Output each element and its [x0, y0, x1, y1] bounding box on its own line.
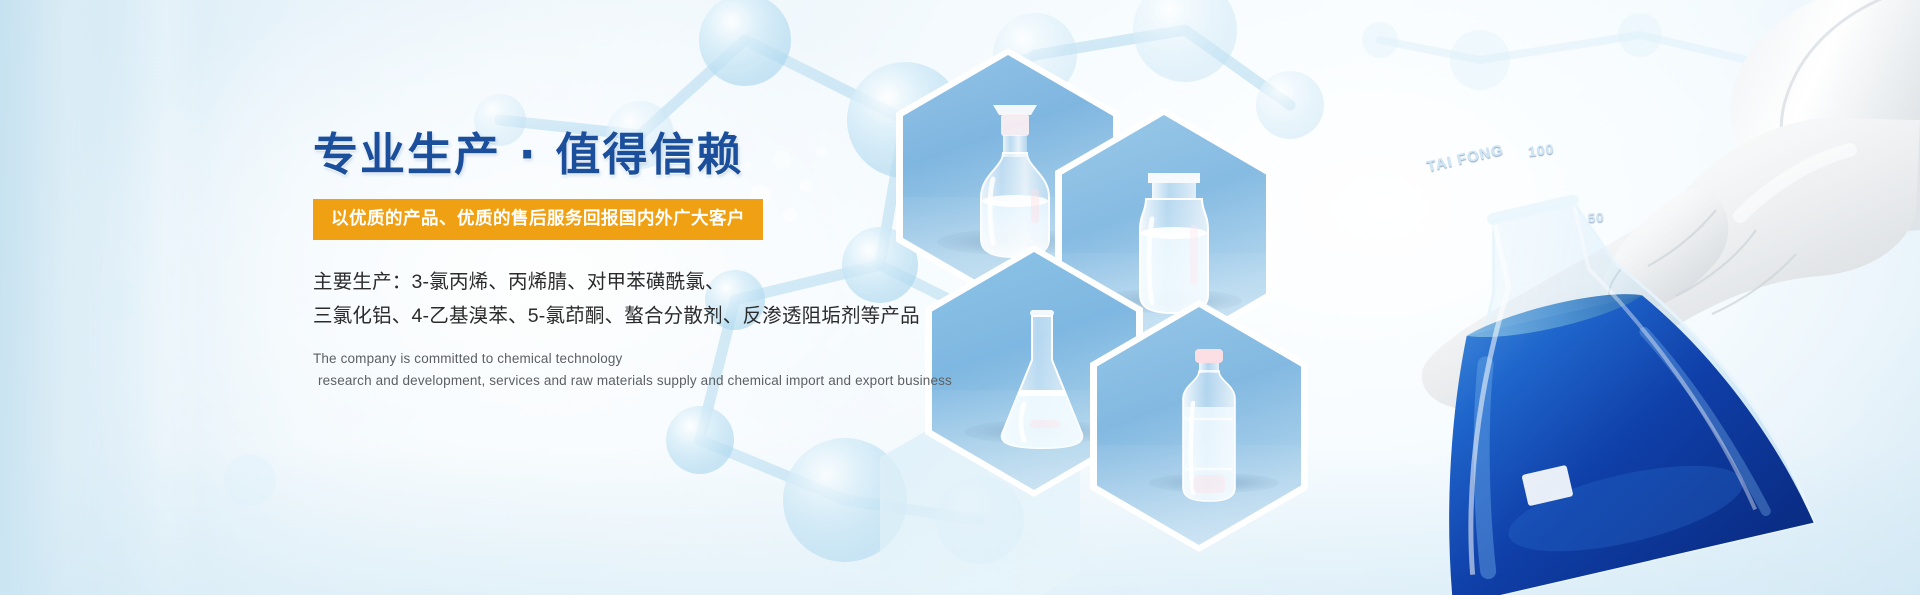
- banner-text-block: 专业生产 · 值得信赖 以优质的产品、优质的售后服务回报国内外广大客户 主要生产…: [313, 132, 933, 392]
- product-list-line-2: 三氯化铝、4-乙基溴苯、5-氯茚酮、螯合分散剂、反渗透阻垢剂等产品: [313, 300, 933, 332]
- page-title: 专业生产 · 值得信赖: [313, 132, 933, 177]
- hero-banner: TAI FONG 100 50 专业生产 · 值得信赖 以优质的产品、优质的售后…: [0, 0, 1920, 595]
- description-line-1: The company is committed to chemical tec…: [313, 348, 933, 370]
- tagline-ribbon: 以优质的产品、优质的售后服务回报国内外广大客户: [313, 199, 763, 240]
- flask-graduation-50: 50: [1587, 209, 1604, 225]
- reagent-bottle-icon: [963, 101, 1067, 261]
- company-description-english: The company is committed to chemical tec…: [313, 348, 933, 392]
- erlenmeyer-flask-icon: [990, 308, 1094, 454]
- left-edge-gradient: [0, 0, 240, 595]
- light-streak-decoration: [0, 0, 300, 595]
- plastic-bottle-icon: [1173, 347, 1245, 509]
- flask-graduation-100: 100: [1527, 140, 1555, 159]
- product-list-line-1: 主要生产：3-氯丙烯、丙烯腈、对甲苯磺酰氯、: [313, 266, 933, 298]
- description-line-2: research and development, services and r…: [313, 370, 933, 392]
- glass-jar-icon: [1124, 167, 1224, 317]
- flask-brand-label: TAI FONG: [1425, 141, 1505, 175]
- product-list-chinese: 主要生产：3-氯丙烯、丙烯腈、对甲苯磺酰氯、 三氯化铝、4-乙基溴苯、5-氯茚酮…: [313, 266, 933, 332]
